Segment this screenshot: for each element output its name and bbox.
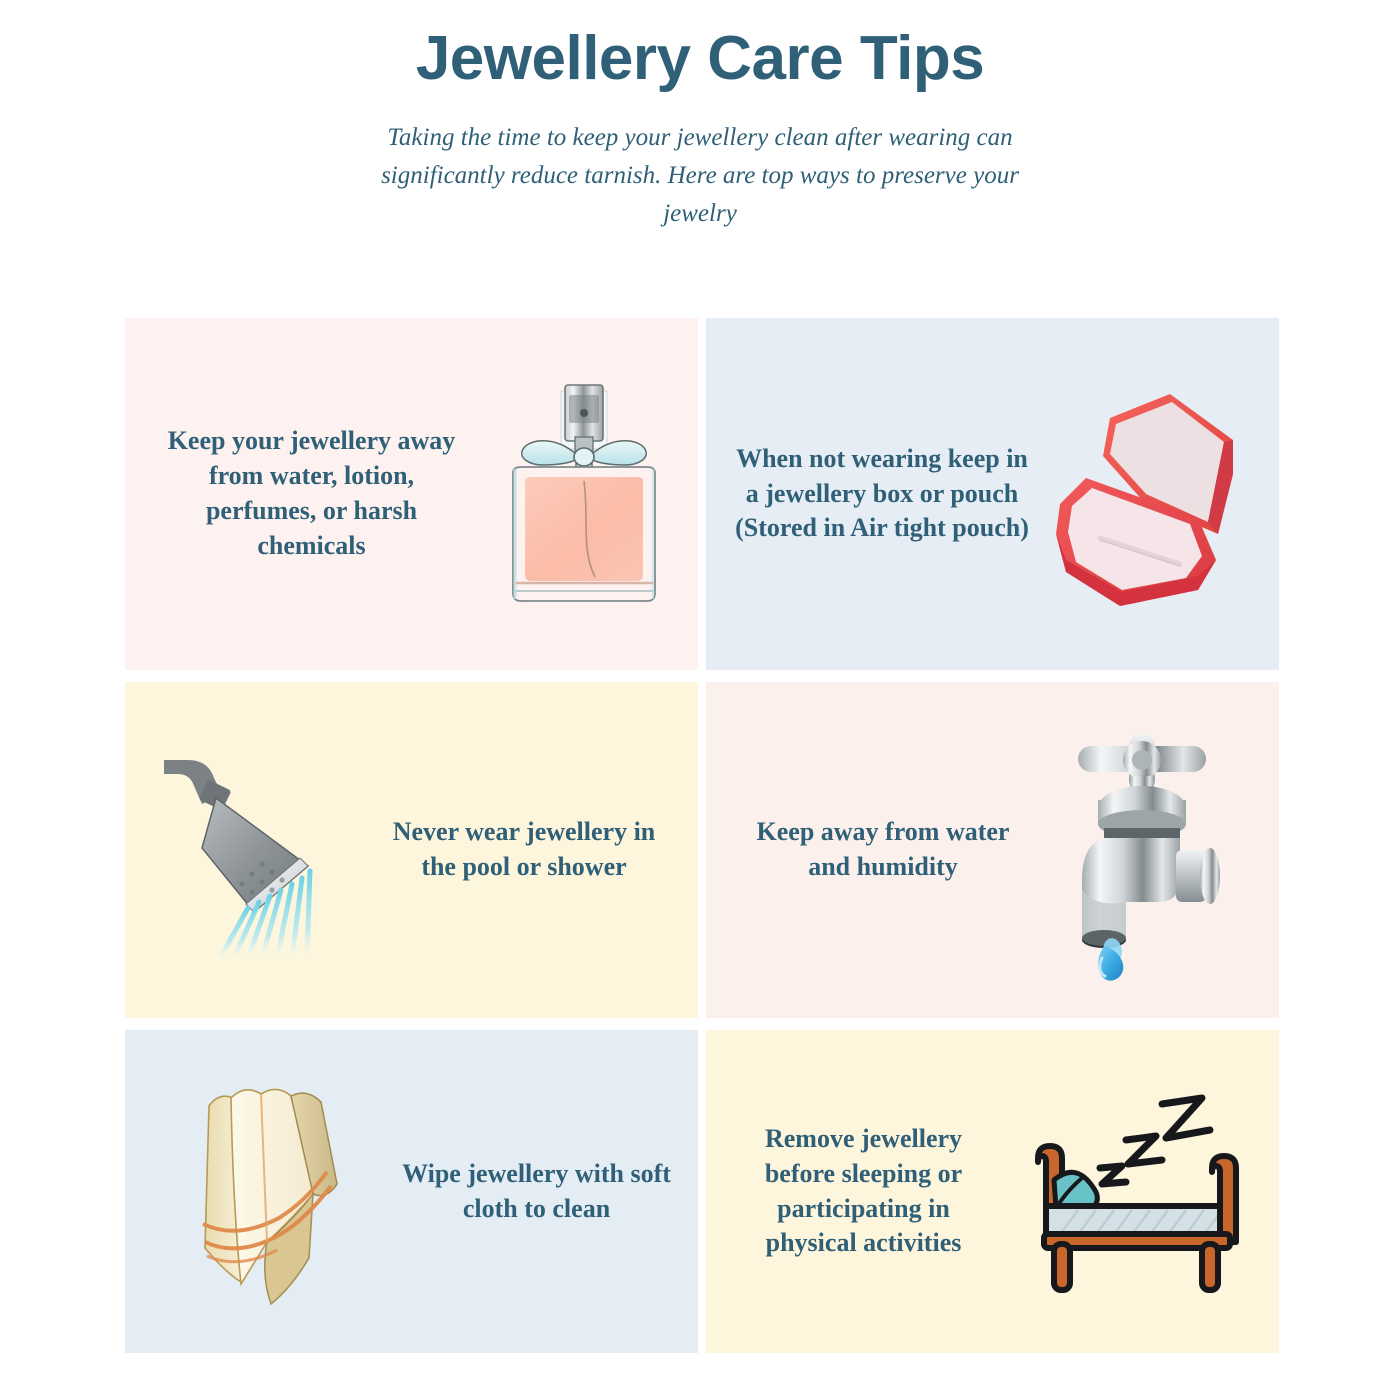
tip-card-wipe-with-soft-cloth[interactable]: Wipe jewellery with soft cloth to clean [125,1030,698,1353]
tip-card-remove-before-sleeping[interactable]: Remove jewellery before sleeping or part… [706,1030,1279,1353]
bed-sleeping-illustration [1011,1030,1261,1353]
header: Jewellery Care Tips Taking the time to k… [0,0,1400,233]
ring-box-illustration [1048,318,1263,670]
tip-card-jewellery-box-pouch[interactable]: When not wearing keep in a jewellery box… [706,318,1279,670]
shower-head-illustration [155,682,370,1018]
infographic-page: Jewellery Care Tips Taking the time to k… [0,0,1400,1400]
tips-grid: Keep your jewellery away from water, lot… [125,318,1275,1353]
page-title: Jewellery Care Tips [0,24,1400,93]
tip-card-text: Remove jewellery before sleeping or part… [716,1122,1011,1261]
tip-card-pool-or-shower[interactable]: Never wear jewellery in the pool or show… [125,682,698,1018]
tip-card-water-lotion-perfume[interactable]: Keep your jewellery away from water, lot… [125,318,698,670]
tip-card-text: Never wear jewellery in the pool or show… [370,815,678,885]
soft-cloth-illustration [155,1030,385,1353]
perfume-bottle-illustration [480,318,680,670]
tip-card-text: Keep your jewellery away from water, lot… [143,424,480,563]
tip-card-text: Keep away from water and humidity [732,815,1034,885]
page-subtitle: Taking the time to keep your jewellery c… [380,119,1020,233]
tip-card-water-and-humidity[interactable]: Keep away from water and humidity [706,682,1279,1018]
tip-card-text: When not wearing keep in a jewellery box… [716,442,1048,546]
tip-card-text: Wipe jewellery with soft cloth to clean [385,1157,688,1227]
faucet-water-drop-illustration [1034,682,1249,1018]
